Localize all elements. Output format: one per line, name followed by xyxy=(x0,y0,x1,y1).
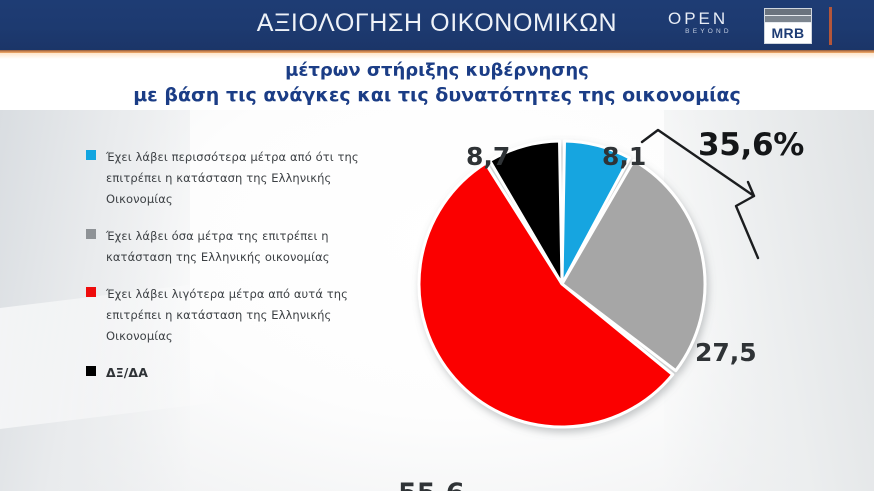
beyond-logo-text: BEYOND xyxy=(668,27,752,37)
subtitle-line-2: με βάση τις ανάγκες και τις δυνατότητες … xyxy=(0,83,874,108)
legend-label-more-measures: Έχει λάβει περισσότερα μέτρα από ότι της… xyxy=(106,150,359,206)
pie-label-red: 55,6 xyxy=(398,478,465,491)
legend-item-dont-know: ΔΞ/ΔΑ xyxy=(86,362,368,382)
pie-label-black: 8,7 xyxy=(466,142,510,171)
pie-slices-group xyxy=(419,141,705,427)
legend-label-adequate-measures: Έχει λάβει όσα μέτρα της επιτρέπει η κατ… xyxy=(106,229,330,264)
pie-chart xyxy=(406,128,718,440)
legend-swatch-icon-blue xyxy=(86,150,96,160)
pie-label-blue: 8,1 xyxy=(602,142,646,171)
mrb-logo: MRB xyxy=(764,8,812,44)
legend-swatch-icon-red xyxy=(86,287,96,297)
mrb-logo-bar-mid xyxy=(765,16,811,23)
legend-label-fewer-measures: Έχει λάβει λιγότερα μέτρα από αυτά της ε… xyxy=(106,287,348,343)
open-beyond-logo: OPEN BEYOND xyxy=(668,10,752,42)
legend-swatch-icon-gray xyxy=(86,229,96,239)
sum-annotation-label: 35,6% xyxy=(698,127,804,163)
legend-swatch-icon-black xyxy=(86,366,96,376)
subtitle-block: μέτρων στήριξης κυβέρνησης με βάση τις α… xyxy=(0,58,874,110)
mrb-logo-bar-top xyxy=(765,9,811,16)
chart-legend: Έχει λάβει περισσότερα μέτρα από ότι της… xyxy=(86,146,368,398)
header-divider xyxy=(829,7,832,45)
chart-stage: Έχει λάβει περισσότερα μέτρα από ότι της… xyxy=(0,110,874,491)
legend-item-fewer-measures: Έχει λάβει λιγότερα μέτρα από αυτά της ε… xyxy=(86,283,368,346)
app-header: ΑΞΙΟΛΟΓΗΣΗ ΟΙΚΟΝΟΜΙΚΩΝ OPEN BEYOND MRB xyxy=(0,0,874,50)
subtitle-line-1: μέτρων στήριξης κυβέρνησης xyxy=(0,58,874,83)
pie-label-gray: 27,5 xyxy=(695,338,757,367)
pie-chart-svg xyxy=(406,128,718,440)
mrb-logo-text: MRB xyxy=(765,23,811,43)
open-logo-text: OPEN xyxy=(668,10,752,27)
legend-item-more-measures: Έχει λάβει περισσότερα μέτρα από ότι της… xyxy=(86,146,368,209)
legend-label-dont-know: ΔΞ/ΔΑ xyxy=(106,365,148,380)
legend-item-adequate-measures: Έχει λάβει όσα μέτρα της επιτρέπει η κατ… xyxy=(86,225,368,267)
